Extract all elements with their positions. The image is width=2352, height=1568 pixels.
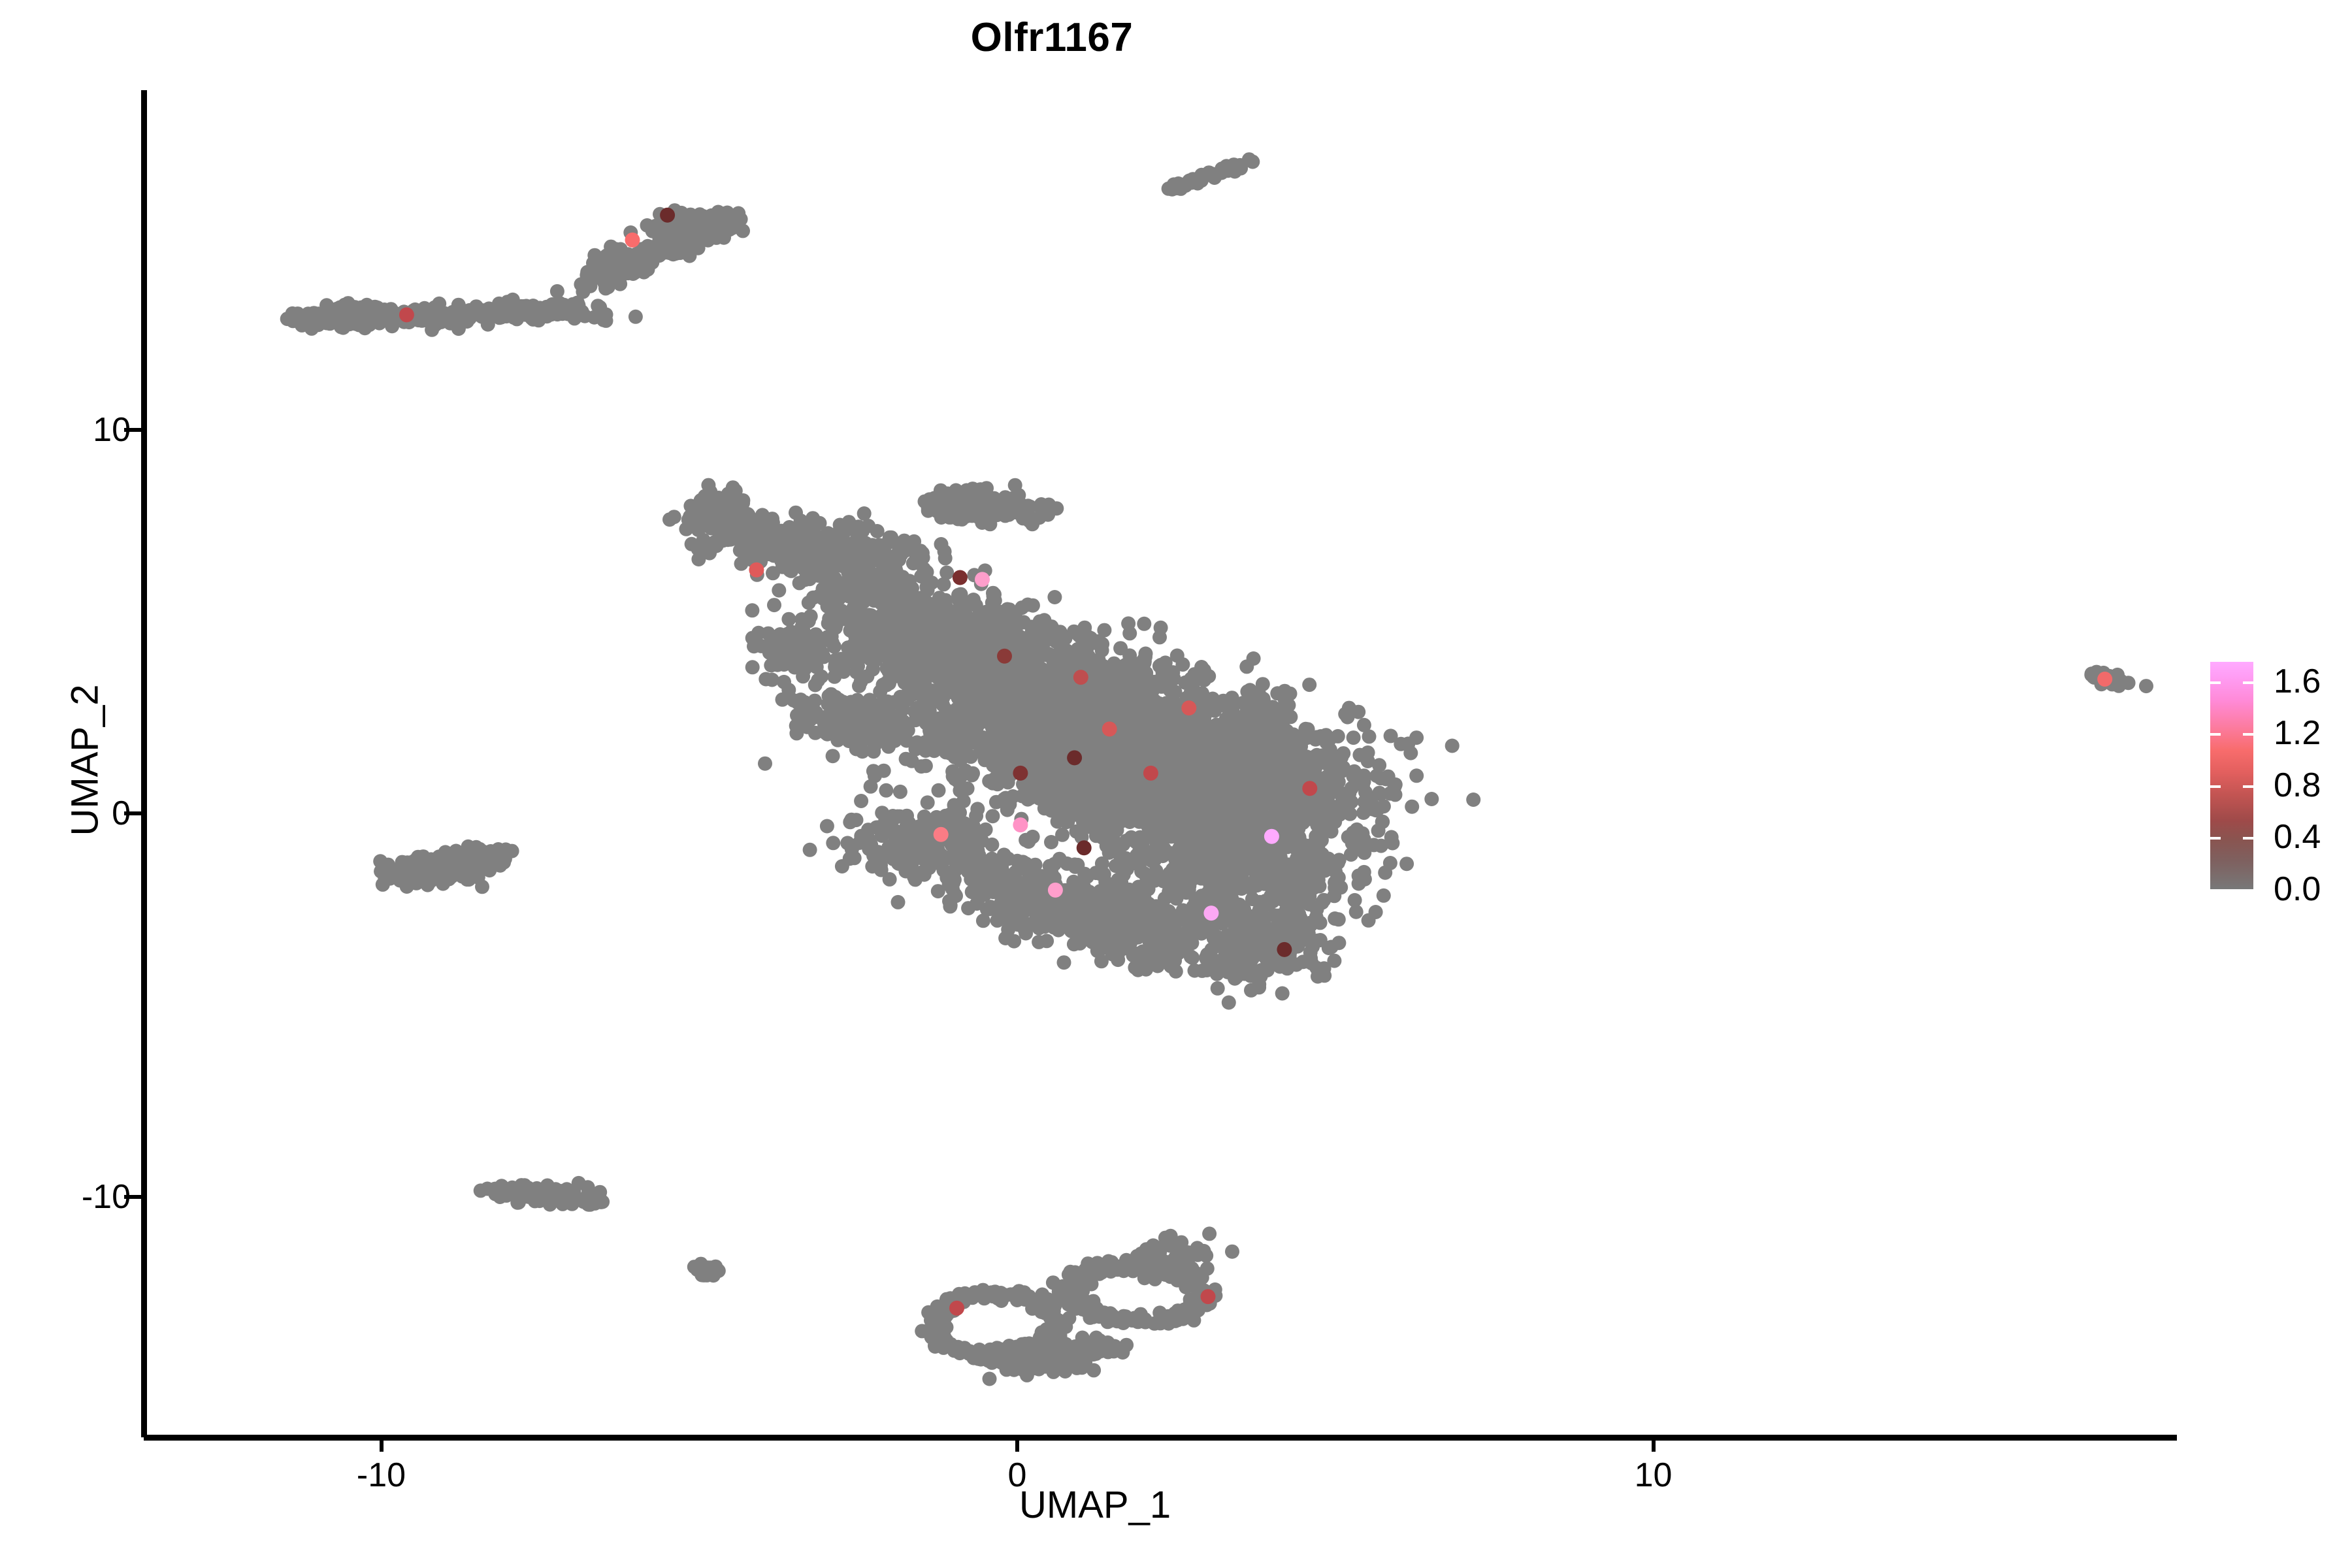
points-layer [280,152,2153,1386]
scatter-point [1081,650,1095,664]
scatter-point [1036,753,1050,767]
scatter-point [1409,768,1424,783]
scatter-point [1403,746,1418,760]
scatter-point [1356,778,1370,792]
scatter-point [1032,721,1047,735]
scatter-point [1377,889,1391,903]
scatter-point [1299,872,1314,886]
scatter-point [1142,845,1156,859]
scatter-point [1165,796,1179,810]
scatter-point [1024,672,1038,686]
scatter-point [1405,800,1419,814]
scatter-point [1322,819,1336,834]
scatter-point [629,310,643,324]
scatter-point [1245,855,1259,869]
scatter-point [1383,856,1397,870]
scatter-point [1156,847,1171,862]
scatter-point [1355,826,1369,841]
scatter-point [860,669,874,683]
scatter-point [1110,794,1124,809]
scatter-point [1129,749,1143,764]
scatter-point [1137,617,1151,631]
scatter-point [1056,716,1071,730]
scatter-point [1155,679,1169,693]
scatter-point [894,667,908,681]
scatter-point [587,248,602,263]
scatter-point [1347,730,1361,745]
scatter-point [1335,796,1349,810]
scatter-point [1279,705,1293,719]
scatter-point [1136,709,1151,723]
scatter-point [986,759,1000,773]
scatter-point [1146,732,1160,746]
scatter-point [1154,621,1168,635]
scatter-point [1212,886,1226,900]
scatter-point [501,306,515,321]
scatter-point [1085,729,1099,743]
scatter-point [949,738,964,753]
scatter-point [975,653,990,668]
scatter-point [997,792,1011,806]
scatter-point [960,636,975,651]
scatter-point [1264,751,1279,765]
scatter-point [555,306,570,321]
scatter-point [1284,826,1299,841]
scatter-point [866,634,880,648]
scatter-point [1212,698,1226,713]
scatter-point [1102,768,1116,783]
scatter-point [866,764,881,778]
scatter-point [550,284,564,299]
scatter-point [1294,757,1308,772]
scatter-point [758,757,772,771]
scatter-point [607,269,621,284]
scatter-point [1231,857,1245,872]
scatter-point [1195,732,1209,746]
scatter-point [1124,765,1138,779]
scatter-point [1032,621,1047,635]
scatter-point [961,654,975,668]
scatter-point [767,598,781,612]
scatter-point [1211,166,1226,180]
scatter-point [1341,830,1356,844]
scatter-point [1328,875,1342,890]
scatter-point [375,304,389,318]
scatter-point [1308,806,1322,820]
scatter-point [1139,675,1154,689]
scatter-plot-canvas [0,0,2352,1568]
scatter-point [1175,828,1190,843]
scatter-point [1117,706,1132,720]
scatter-point [1026,638,1041,653]
scatter-point [1057,766,1071,780]
scatter-point [525,307,539,321]
scatter-point [985,631,1000,645]
scatter-point [330,307,344,321]
scatter-point [1089,685,1103,700]
scatter-point [1228,161,1243,175]
scatter-point [1116,838,1130,852]
scatter-point [1252,842,1267,857]
scatter-point [946,769,960,783]
scatter-point [1445,739,1460,753]
scatter-point [1122,683,1137,697]
scatter-point [989,704,1004,719]
scatter-point [1266,700,1280,714]
scatter-point [470,301,484,316]
scatter-point [1245,711,1260,726]
scatter-point [1298,729,1312,743]
scatter-point [1090,826,1105,840]
scatter-point [1100,708,1114,723]
scatter-point [1087,670,1102,685]
scatter-point [1204,754,1218,768]
scatter-point [1235,740,1250,754]
scatter-point [1324,940,1339,955]
scatter-point [1122,815,1137,829]
scatter-point [1103,830,1118,845]
scatter-point [1037,801,1052,815]
scatter-point [1374,839,1388,853]
scatter-point [919,759,933,773]
scatter-point [964,749,978,764]
scatter-point [1247,651,1261,666]
scatter-point [1336,746,1350,760]
scatter-point [482,311,497,325]
scatter-point [1074,691,1088,706]
scatter-point [1202,868,1217,882]
scatter-point [1152,659,1167,673]
scatter-point [1209,783,1224,797]
scatter-point [884,645,898,659]
scatter-point [1001,775,1015,789]
scatter-point [1190,843,1204,857]
scatter-point [1388,787,1403,802]
scatter-point [1123,722,1137,736]
scatter-point [1091,634,1105,649]
scatter-point [917,676,932,690]
scatter-point [892,632,906,646]
scatter-point [1113,660,1128,674]
scatter-point [1166,666,1180,681]
scatter-point [1045,776,1059,791]
scatter-point [1188,805,1202,819]
scatter-point [931,636,945,651]
scatter-point [1129,835,1143,849]
scatter-point [826,749,840,763]
scatter-point [1011,647,1026,661]
scatter-point [1000,731,1014,745]
scatter-point [1039,665,1054,679]
scatter-point [1466,792,1480,807]
scatter-point [951,704,965,718]
scatter-point [802,596,816,610]
scatter-point [1022,783,1036,798]
scatter-point [1240,836,1254,850]
scatter-point [953,783,967,798]
scatter-point [591,299,605,313]
scatter-point [781,612,796,627]
scatter-point [1258,813,1272,828]
scatter-point [978,679,992,693]
scatter-point [1073,717,1087,732]
scatter-point [1243,728,1257,742]
scatter-point [1054,681,1068,696]
scatter-point [1055,828,1070,842]
scatter-point [1245,155,1260,169]
scatter-point [1280,724,1294,738]
scatter-point [1075,775,1089,789]
scatter-point [1335,764,1349,778]
scatter-point [1141,826,1156,841]
scatter-point [637,265,651,280]
scatter-point [1187,667,1201,681]
scatter-point [985,775,999,789]
scatter-point [1271,863,1285,877]
scatter-point [920,709,934,723]
scatter-point [1092,784,1106,798]
scatter-point [1179,177,1193,191]
scatter-point [1185,790,1200,804]
scatter-point [1273,764,1287,778]
scatter-point [1219,728,1233,742]
scatter-point [1162,721,1177,736]
scatter-point [1184,685,1198,699]
scatter-point [1228,798,1243,813]
scatter-point [1026,598,1040,613]
scatter-point [921,795,935,809]
scatter-point [1379,772,1393,787]
scatter-point [681,219,695,233]
scatter-point [986,743,1000,757]
umap-feature-plot: Olfr1167 -10010 -10010 UMAP_1 UMAP_2 1.6… [0,0,2352,1568]
scatter-point [976,615,990,630]
scatter-point [1332,853,1347,867]
scatter-point [934,738,949,753]
scatter-point [1128,798,1143,813]
scatter-point [893,785,907,799]
scatter-point [698,226,713,240]
scatter-point [1164,767,1179,781]
scatter-point [1088,803,1103,817]
scatter-point [290,310,304,324]
scatter-point [821,599,835,613]
scatter-point [613,242,628,257]
scatter-point [994,675,1009,689]
scatter-point [359,312,374,326]
scatter-point [947,666,962,680]
scatter-point [434,315,448,329]
scatter-point [987,587,1002,602]
scatter-point [1100,743,1114,757]
scatter-point [1194,168,1209,182]
scatter-point [1007,713,1021,728]
scatter-point [1243,683,1257,697]
scatter-point [1424,792,1439,806]
scatter-point [996,615,1010,630]
scatter-point [1254,778,1268,792]
scatter-point [1331,729,1345,743]
scatter-point [1277,785,1292,799]
scatter-point [1121,616,1135,630]
scatter-point [1384,728,1398,743]
scatter-point [1252,868,1266,882]
scatter-point [1181,762,1195,776]
scatter-point [961,683,975,698]
scatter-point [1023,737,1037,751]
scatter-point [772,583,786,598]
scatter-point [1192,823,1206,838]
scatter-point [1047,590,1062,604]
scatter-point [1071,806,1086,821]
scatter-point [1365,802,1380,817]
scatter-point [1357,865,1371,879]
scatter-point [1362,729,1377,743]
scatter-point [936,577,951,591]
scatter-point [712,213,727,227]
scatter-point [745,603,759,617]
scatter-point [1302,678,1316,692]
scatter-point [1361,754,1375,768]
scatter-point [1041,691,1055,706]
scatter-point [645,224,660,238]
scatter-point [1222,996,1236,1010]
scatter-point [1349,905,1364,919]
scatter-point [847,644,861,658]
scatter-point [1162,866,1177,881]
scatter-point [936,599,950,613]
scatter-point [1049,634,1063,649]
scatter-point [1083,746,1097,760]
scatter-point [1221,819,1235,833]
scatter-point [1399,857,1414,871]
scatter-point [1321,758,1335,772]
scatter-point [1308,751,1322,766]
scatter-point [925,689,939,704]
scatter-point [932,783,946,798]
scatter-point [922,623,936,637]
scatter-point [1338,707,1352,721]
scatter-point [949,721,964,735]
scatter-point [958,613,973,628]
scatter-point [1077,621,1092,635]
